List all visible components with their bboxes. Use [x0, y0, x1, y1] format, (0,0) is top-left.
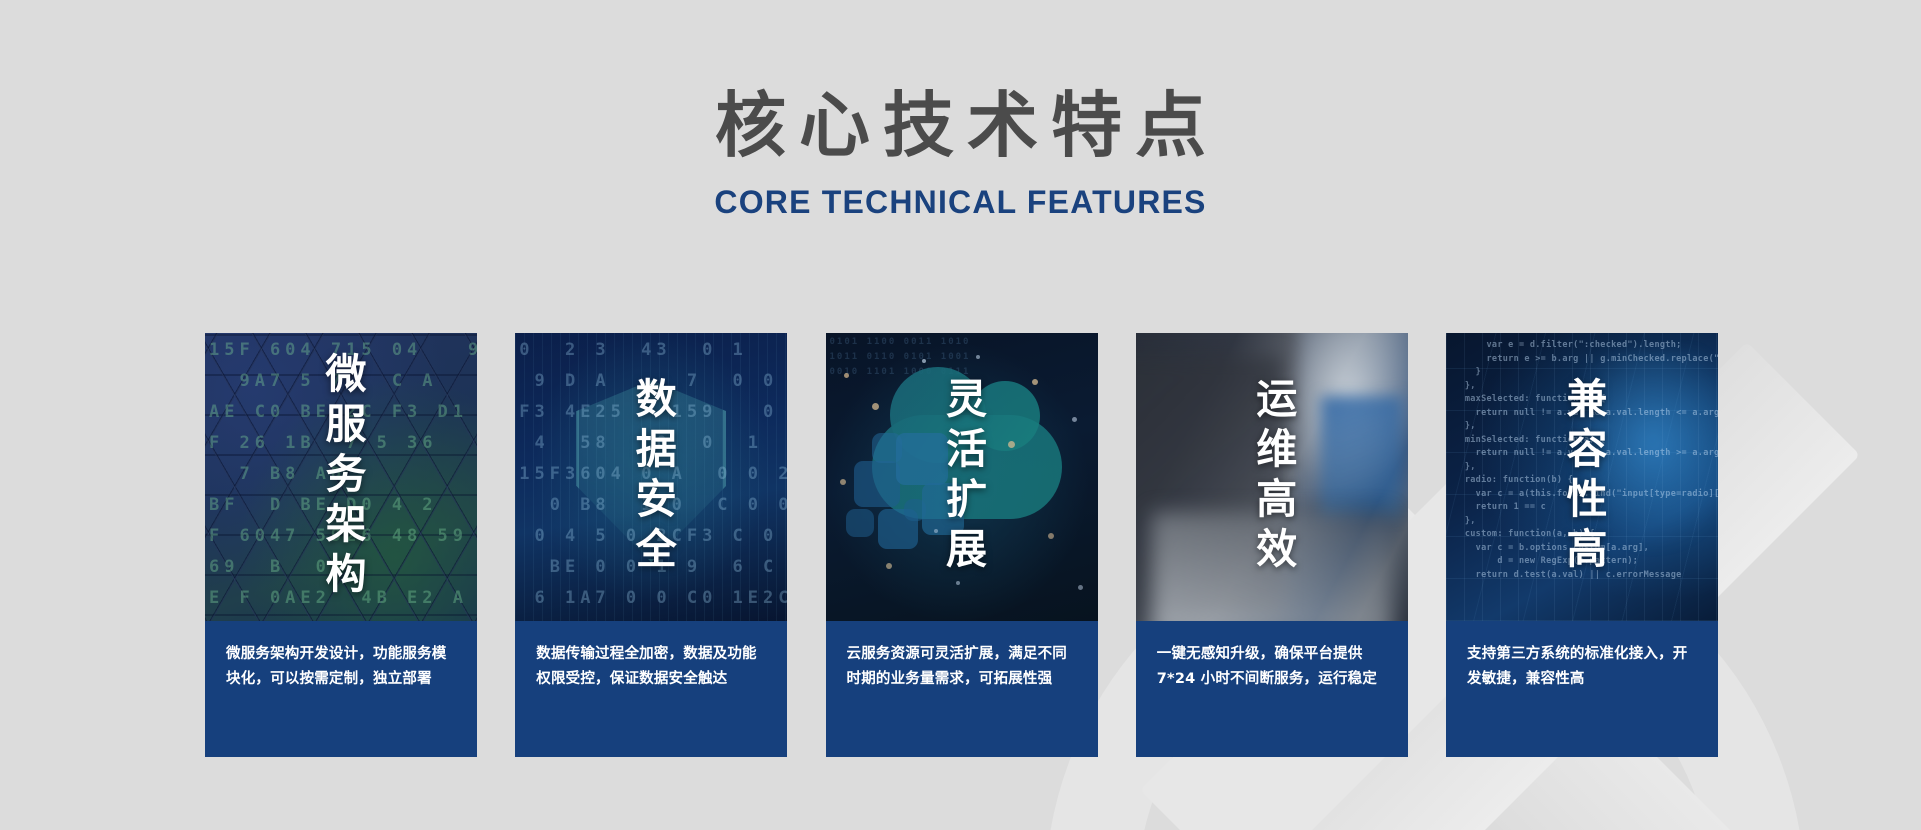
card-caption: 云服务资源可灵活扩展，满足不同时期的业务量需求，可拓展性强 — [847, 642, 1077, 692]
card-footer: 一键无感知升级，确保平台提供7*24 小时不间断服务，运行稳定 — [1136, 621, 1408, 757]
card-title: 兼容性高 — [1559, 377, 1605, 577]
card-footer: 微服务架构开发设计，功能服务模块化，可以按需定制，独立部署 — [205, 621, 477, 757]
feature-card-flexible-scaling[interactable]: 0101 1100 0011 1010 1011 0110 0101 1001 … — [826, 333, 1098, 757]
card-title-wrap: 微服务架构 — [205, 333, 477, 621]
card-caption: 支持第三方系统的标准化接入，开发敏捷，兼容性高 — [1467, 642, 1697, 692]
feature-card-operations[interactable]: 运维高效 一键无感知升级，确保平台提供7*24 小时不间断服务，运行稳定 — [1136, 333, 1408, 757]
feature-card-microservice[interactable]: 15F 604 715 04 9 0 9A7 5 7 C A AE C0 BE … — [205, 333, 477, 757]
card-title-wrap: 灵活扩展 — [826, 333, 1098, 621]
card-caption: 微服务架构开发设计，功能服务模块化，可以按需定制，独立部署 — [226, 642, 456, 692]
feature-card-list: 15F 604 715 04 9 0 9A7 5 7 C A AE C0 BE … — [205, 333, 1718, 757]
card-title: 灵活扩展 — [939, 377, 985, 577]
card-caption: 数据传输过程全加密，数据及功能权限受控，保证数据安全触达 — [536, 642, 766, 692]
card-visual: 运维高效 — [1136, 333, 1408, 621]
page-title: 核心技术特点 — [0, 88, 1921, 165]
card-title: 数据安全 — [628, 377, 674, 577]
card-title-wrap: 兼容性高 — [1446, 333, 1718, 621]
card-title-wrap: 数据安全 — [515, 333, 787, 621]
card-footer: 数据传输过程全加密，数据及功能权限受控，保证数据安全触达 — [515, 621, 787, 757]
card-title-wrap: 运维高效 — [1136, 333, 1408, 621]
card-visual: var e = d.filter(":checked").length; ret… — [1446, 333, 1718, 621]
card-visual: 0 2 3 43 0 1 9 D A 7 0 0 F3 4E25 159 0 4… — [515, 333, 787, 621]
page-subtitle: CORE TECHNICAL FEATURES — [0, 184, 1921, 221]
card-caption: 一键无感知升级，确保平台提供7*24 小时不间断服务，运行稳定 — [1157, 642, 1387, 692]
card-footer: 支持第三方系统的标准化接入，开发敏捷，兼容性高 — [1446, 621, 1718, 757]
card-visual: 0101 1100 0011 1010 1011 0110 0101 1001 … — [826, 333, 1098, 621]
card-visual: 15F 604 715 04 9 0 9A7 5 7 C A AE C0 BE … — [205, 333, 477, 621]
section-header: 核心技术特点 CORE TECHNICAL FEATURES — [0, 88, 1921, 221]
feature-card-data-security[interactable]: 0 2 3 43 0 1 9 D A 7 0 0 F3 4E25 159 0 4… — [515, 333, 787, 757]
card-title: 运维高效 — [1249, 377, 1295, 577]
feature-card-compatibility[interactable]: var e = d.filter(":checked").length; ret… — [1446, 333, 1718, 757]
card-footer: 云服务资源可灵活扩展，满足不同时期的业务量需求，可拓展性强 — [826, 621, 1098, 757]
card-title: 微服务架构 — [318, 352, 364, 602]
